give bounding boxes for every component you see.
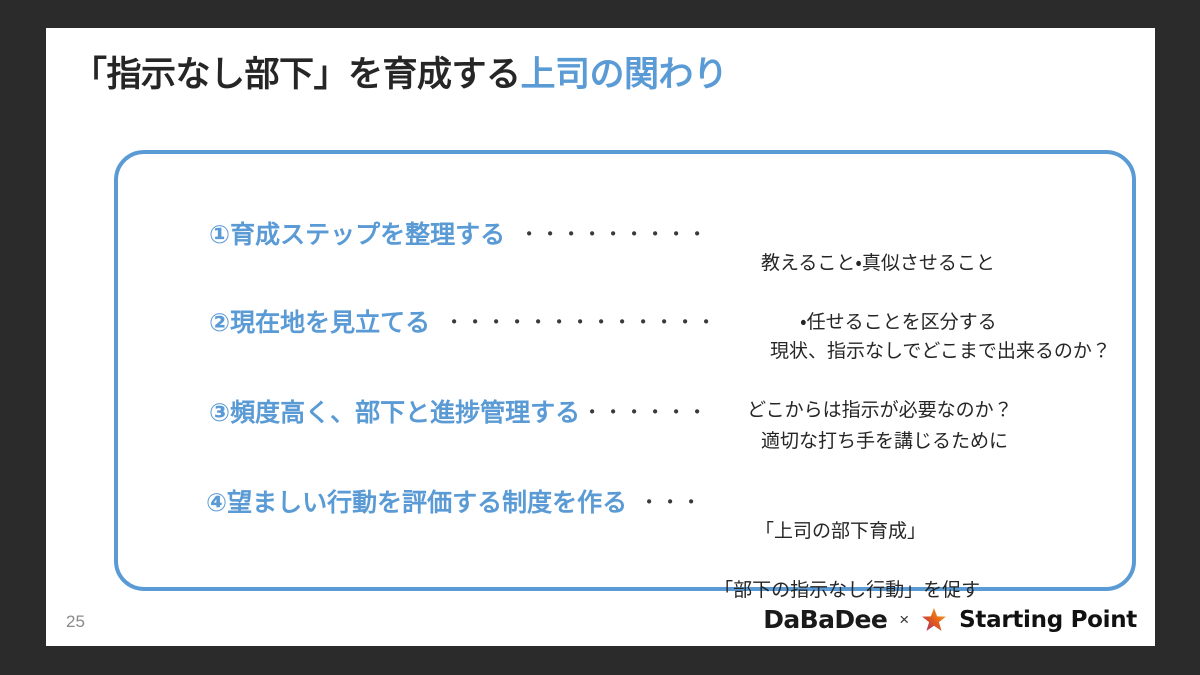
dot-leader: ・・・ [639,488,702,519]
description-line-1: 「上司の部下育成」 [755,521,926,542]
list-item: ③頻度高く、部下と進捗管理する ・・・・・・ 適切な打ち手を講じるために [114,398,1136,486]
slide-stage: 「指示なし部下」を育成する上司の関わり ①育成ステップを整理する ・・・・・・・… [0,0,1200,675]
list-item-description: 適切な打ち手を講じるために [708,398,1008,486]
list-item-description: 「上司の部下育成」 「部下の指示なし行動」を促す [702,488,980,665]
page-title: 「指示なし部下」を育成する上司の関わり [72,54,728,96]
content-list: ①育成ステップを整理する ・・・・・・・・・ 教えること・真似させること ・任せ… [114,150,1136,591]
dot-leader: ・・・・・・・・・ [519,220,708,251]
list-item-heading: ②現在地を見立てる [114,308,430,339]
page-title-main: 「指示なし部下」を育成する [72,55,521,94]
star-icon [921,607,947,633]
list-item-heading: ①育成ステップを整理する [114,220,505,251]
cross-separator: × [899,610,909,630]
list-item-heading: ③頻度高く、部下と進捗管理する [114,398,580,429]
dot-leader: ・・・・・・ [582,398,708,429]
page-number: 25 [66,612,85,632]
slide-canvas: 「指示なし部下」を育成する上司の関わり ①育成ステップを整理する ・・・・・・・… [46,28,1155,646]
dabadee-logo: DaBaDee [763,605,887,634]
description-line-1: 教えること・真似させること [761,253,995,274]
list-item: ④望ましい行動を評価する制度を作る ・・・ 「上司の部下育成」 「部下の指示なし… [114,488,1136,665]
starting-point-logo: Starting Point [959,607,1137,633]
description-line-1: 現状、指示なしでどこまで出来るのか？ [770,341,1111,362]
page-title-accent: 上司の関わり [521,55,728,94]
dot-leader: ・・・・・・・・・・・・・ [444,308,717,339]
description-line-1: 適切な打ち手を講じるために [761,431,1008,452]
list-item-heading: ④望ましい行動を評価する制度を作る [114,488,627,519]
footer-logos: DaBaDee × Starting Point [763,605,1137,634]
description-line-2: 「部下の指示なし行動」を促す [702,576,980,605]
